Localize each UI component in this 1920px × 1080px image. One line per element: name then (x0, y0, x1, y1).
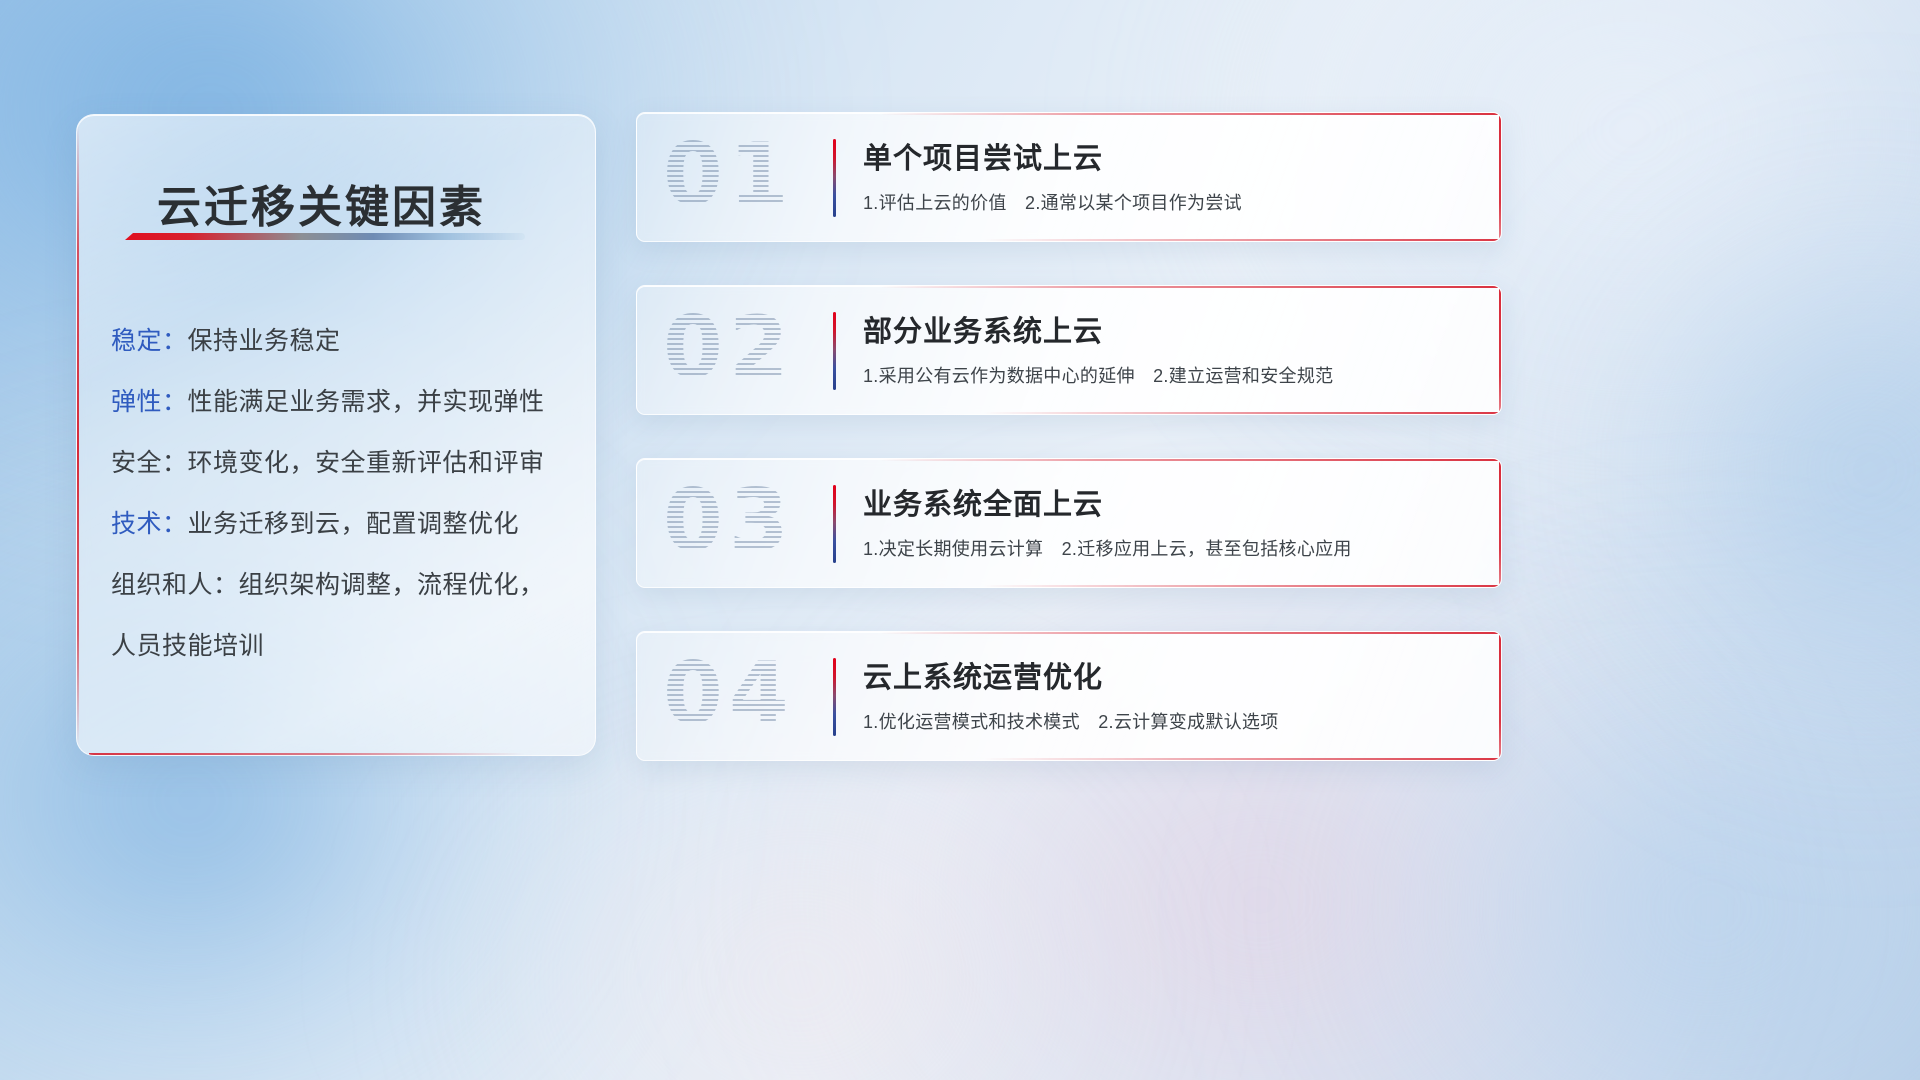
card-bottom-accent (983, 758, 1501, 760)
factor-text: 环境变化，安全重新评估和评审 (188, 449, 545, 477)
card-top-accent (879, 113, 1501, 115)
card-title: 云上系统运营优化 (863, 654, 1103, 696)
card-description: 1.采用公有云作为数据中心的延伸 2.建立运营和安全规范 (863, 362, 1333, 388)
card-divider-bar (833, 658, 836, 736)
card-divider-bar (833, 312, 836, 390)
card-top-accent (879, 459, 1501, 461)
card-title: 部分业务系统上云 (863, 308, 1103, 350)
factor-label: 稳定： (111, 327, 188, 355)
factor-item: 安全：环境变化，安全重新评估和评审 (111, 433, 571, 494)
factor-label: 技术： (111, 510, 188, 538)
card-description: 1.评估上云的价值 2.通常以某个项目作为尝试 (863, 189, 1242, 215)
card-bottom-accent (983, 239, 1501, 241)
card-top-accent (879, 286, 1501, 288)
key-factors-panel: 云迁移关键因素 稳定：保持业务稳定 弹性：性能满足业务需求，并实现弹性 安全：环… (76, 114, 596, 756)
factor-item: 组织和人：组织架构调整，流程优化， (111, 555, 571, 616)
card-right-accent (1499, 632, 1501, 760)
card-title: 单个项目尝试上云 (863, 135, 1103, 177)
card-right-accent (1499, 286, 1501, 414)
factor-list: 稳定：保持业务稳定 弹性：性能满足业务需求，并实现弹性 安全：环境变化，安全重新… (111, 311, 571, 677)
card-right-accent (1499, 113, 1501, 241)
stage-card[interactable]: 04 云上系统运营优化 1.优化运营模式和技术模式 2.云计算变成默认选项 (636, 631, 1502, 761)
card-step-number: 03 (663, 471, 795, 571)
factor-item: 稳定：保持业务稳定 (111, 311, 571, 372)
factor-label: 安全： (111, 449, 188, 477)
title-underline-gradient (125, 233, 525, 240)
card-divider-bar (833, 139, 836, 217)
card-step-number: 02 (663, 298, 795, 398)
factor-text: 保持业务稳定 (188, 327, 341, 355)
card-bottom-accent (983, 585, 1501, 587)
factor-item: 技术：业务迁移到云，配置调整优化 (111, 494, 571, 555)
panel-left-accent-line (77, 125, 79, 745)
factor-label: 组织和人： (111, 571, 239, 599)
panel-bottom-accent-line (89, 753, 525, 755)
card-step-number: 04 (663, 644, 795, 744)
stage-card-list: 01 单个项目尝试上云 1.评估上云的价值 2.通常以某个项目作为尝试 02 部… (636, 112, 1502, 804)
card-description: 1.优化运营模式和技术模式 2.云计算变成默认选项 (863, 708, 1279, 734)
card-step-number: 01 (663, 125, 795, 225)
factor-text: 人员技能培训 (111, 632, 264, 660)
factor-item: 弹性：性能满足业务需求，并实现弹性 (111, 372, 571, 433)
factor-item: 人员技能培训 (111, 616, 571, 677)
stage-card[interactable]: 01 单个项目尝试上云 1.评估上云的价值 2.通常以某个项目作为尝试 (636, 112, 1502, 242)
factor-text: 业务迁移到云，配置调整优化 (188, 510, 520, 538)
factor-text: 组织架构调整，流程优化， (239, 571, 545, 599)
card-bottom-accent (983, 412, 1501, 414)
stage-card[interactable]: 02 部分业务系统上云 1.采用公有云作为数据中心的延伸 2.建立运营和安全规范 (636, 285, 1502, 415)
card-right-accent (1499, 459, 1501, 587)
factor-text: 性能满足业务需求，并实现弹性 (188, 388, 545, 416)
card-description: 1.决定长期使用云计算 2.迁移应用上云，甚至包括核心应用 (863, 535, 1352, 561)
card-top-accent (879, 632, 1501, 634)
card-divider-bar (833, 485, 836, 563)
stage-card[interactable]: 03 业务系统全面上云 1.决定长期使用云计算 2.迁移应用上云，甚至包括核心应… (636, 458, 1502, 588)
page-title: 云迁移关键因素 (157, 171, 486, 235)
card-title: 业务系统全面上云 (863, 481, 1103, 523)
factor-label: 弹性： (111, 388, 188, 416)
